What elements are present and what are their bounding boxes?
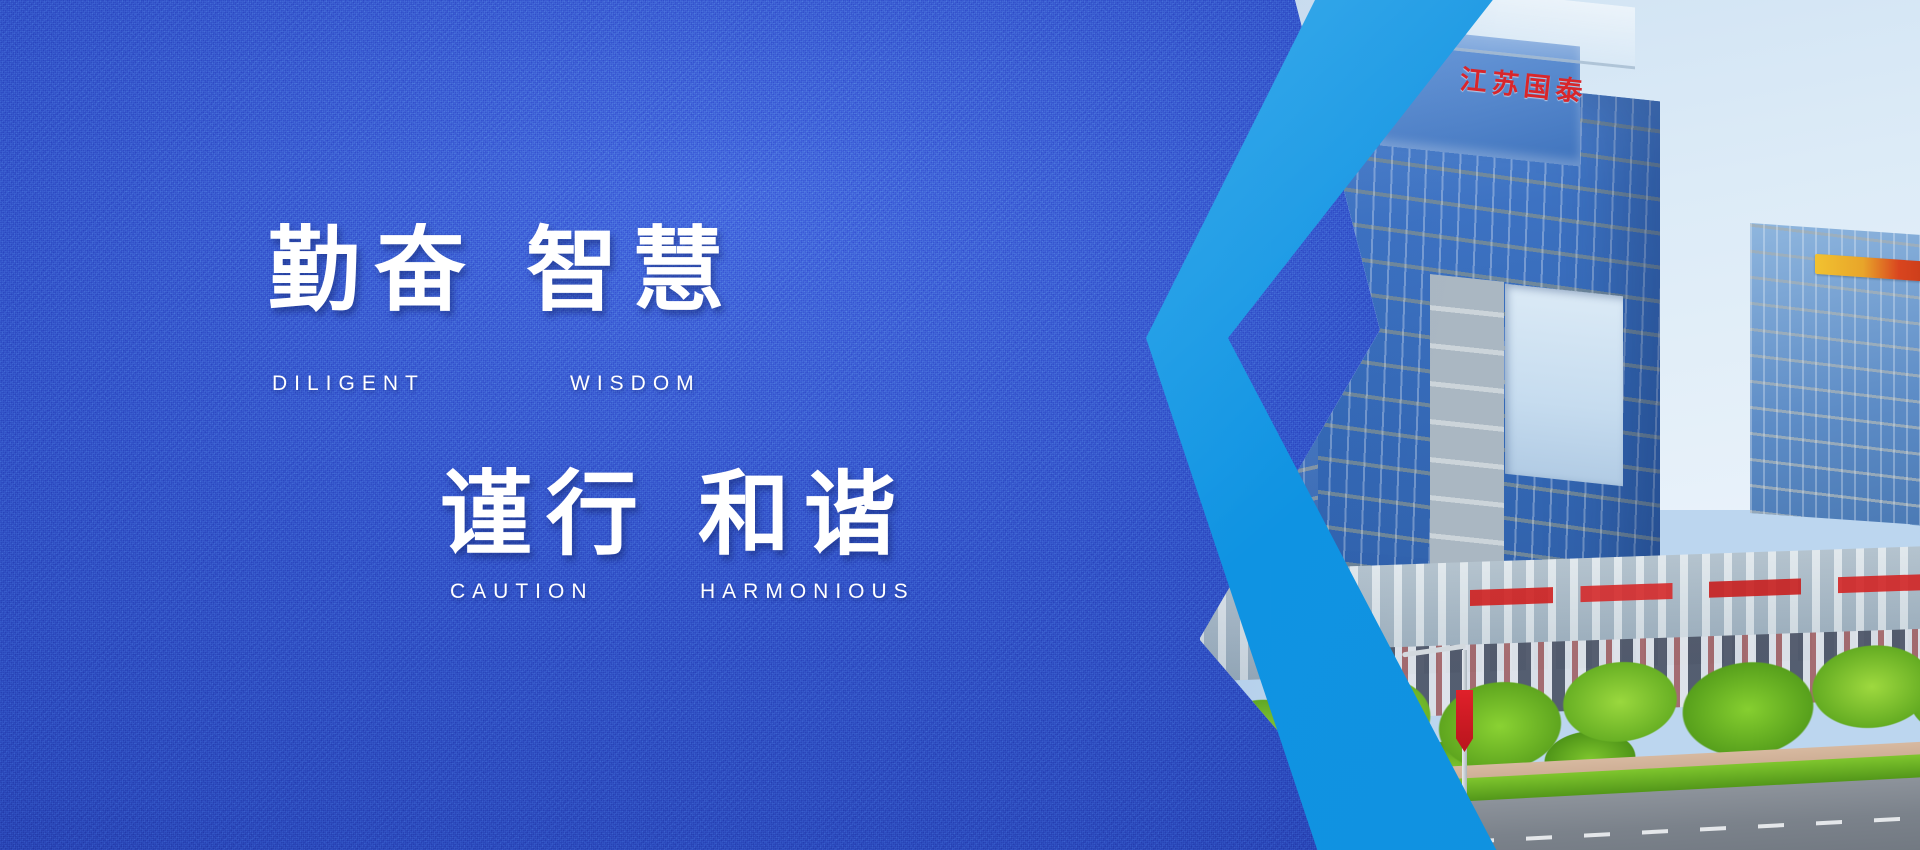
headline-line1-en-right: WISDOM	[570, 372, 701, 396]
headline-line2-en-right: HARMONIOUS	[700, 580, 915, 604]
headline-line2-en-left: CAUTION	[450, 580, 594, 604]
headline-line1-en-left: DILIGENT	[272, 372, 425, 396]
headline-line2-cn: 谨行 和谐	[440, 440, 910, 573]
headline-group: 勤奋 智慧 DILIGENT WISDOM 谨行 和谐 CAUTION HARM…	[0, 0, 1040, 850]
hero-banner: 江苏国泰 勤奋 智慧 DILIGENT WISDOM 谨行 和谐 CAUTION…	[0, 0, 1920, 850]
headline-line1-cn: 勤奋 智慧	[268, 196, 738, 329]
